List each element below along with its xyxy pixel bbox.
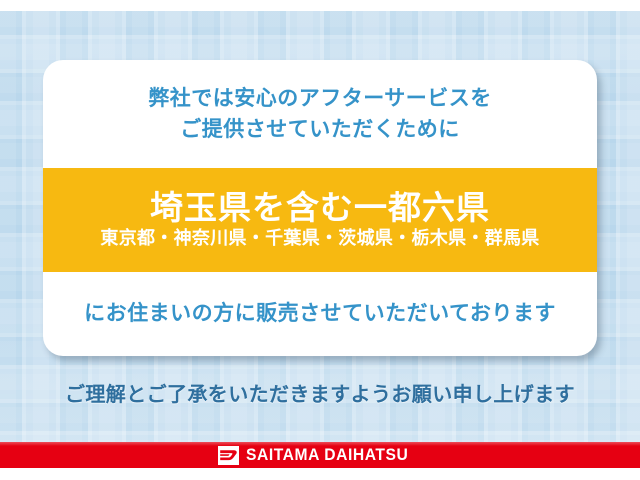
card-intro-block: 弊社では安心のアフターサービスを ご提供させていただくために — [43, 60, 597, 168]
card-outro-block: にお住まいの方に販売させていただいております — [43, 272, 597, 356]
intro-line-1: 弊社では安心のアフターサービスを — [148, 85, 492, 112]
brand-name-label: SAITAMA DAIHATSU — [246, 445, 408, 465]
bottom-white-margin — [0, 468, 640, 480]
notice-image: 弊社では安心のアフターサービスを ご提供させていただくために 埼玉県を含む一都六… — [0, 0, 640, 480]
top-white-margin — [0, 0, 640, 11]
closing-request-text: ご理解とご了承をいただきますようお願い申し上げます — [0, 378, 640, 407]
daihatsu-d-mark-icon — [218, 446, 239, 465]
notice-card: 弊社では安心のアフターサービスを ご提供させていただくために 埼玉県を含む一都六… — [43, 60, 597, 356]
intro-line-2: ご提供させていただくために — [180, 116, 460, 143]
brand-footer-bar: SAITAMA DAIHATSU — [0, 442, 640, 468]
highlight-band: 埼玉県を含む一都六県 東京都・神奈川県・千葉県・茨城県・栃木県・群馬県 — [43, 168, 597, 272]
band-prefecture-list: 東京都・神奈川県・千葉県・茨城県・栃木県・群馬県 — [100, 229, 539, 250]
band-headline: 埼玉県を含む一都六県 — [150, 190, 490, 227]
outro-line-1: にお住まいの方に販売させていただいております — [84, 300, 556, 327]
